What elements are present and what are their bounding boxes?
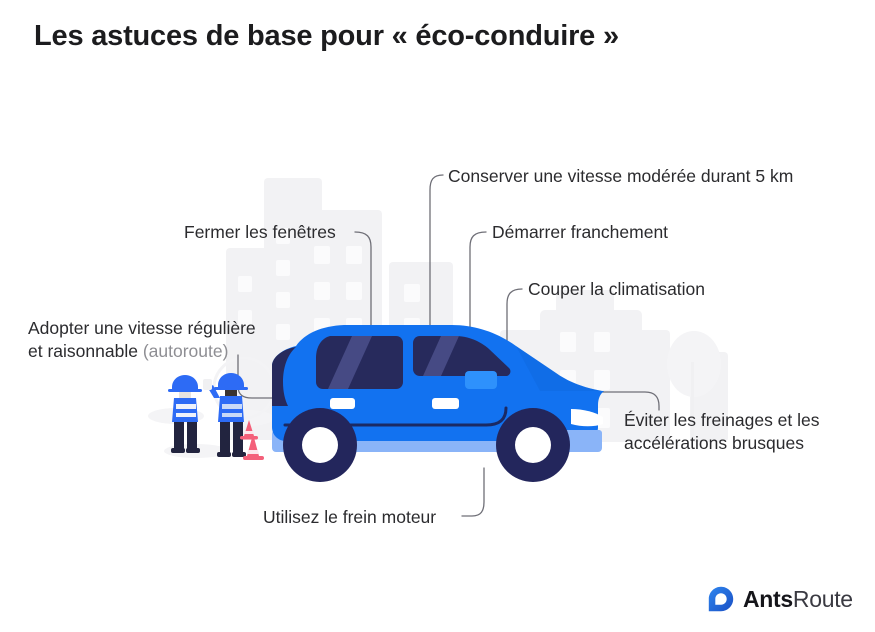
callout-adopter-vitesse-line1: Adopter une vitesse régulière [28, 317, 256, 340]
callout-adopter-vitesse-line2-muted: (autoroute) [143, 341, 229, 361]
callout-demarrer-franchement-text: Démarrer franchement [492, 222, 668, 242]
callout-eviter-freinages-line1: Éviter les freinages et les [624, 409, 820, 432]
callout-adopter-vitesse: Adopter une vitesse régulière et raisonn… [28, 317, 256, 363]
logo-brand-bold: Ants [743, 586, 793, 612]
antsroute-wordmark: AntsRoute [743, 588, 853, 611]
callout-adopter-vitesse-line2-main: et raisonnable [28, 341, 143, 361]
callout-fermer-fenetres-text: Fermer les fenêtres [184, 222, 336, 242]
callout-conserver-vitesse: Conserver une vitesse modérée durant 5 k… [448, 165, 793, 188]
infographic-canvas: Les astuces de base pour « éco-conduire … [0, 0, 875, 632]
callout-eviter-freinages: Éviter les freinages et les accélération… [624, 409, 820, 455]
callout-adopter-vitesse-line2: et raisonnable (autoroute) [28, 340, 256, 363]
antsroute-q-mark [708, 586, 734, 612]
road-workers-illustration [0, 0, 875, 632]
worker-figure-b [203, 373, 248, 457]
callout-frein-moteur-text: Utilisez le frein moteur [263, 507, 436, 527]
antsroute-logo: AntsRoute [708, 586, 853, 612]
callout-conserver-vitesse-text: Conserver une vitesse modérée durant 5 k… [448, 166, 793, 186]
callout-demarrer-franchement: Démarrer franchement [492, 221, 668, 244]
callout-couper-climatisation-text: Couper la climatisation [528, 279, 705, 299]
callout-frein-moteur: Utilisez le frein moteur [263, 506, 436, 529]
callout-fermer-fenetres: Fermer les fenêtres [184, 221, 336, 244]
worker-figure-a [168, 375, 202, 453]
logo-brand-light: Route [793, 586, 853, 612]
callout-couper-climatisation: Couper la climatisation [528, 278, 705, 301]
callout-eviter-freinages-line2: accélérations brusques [624, 432, 820, 455]
